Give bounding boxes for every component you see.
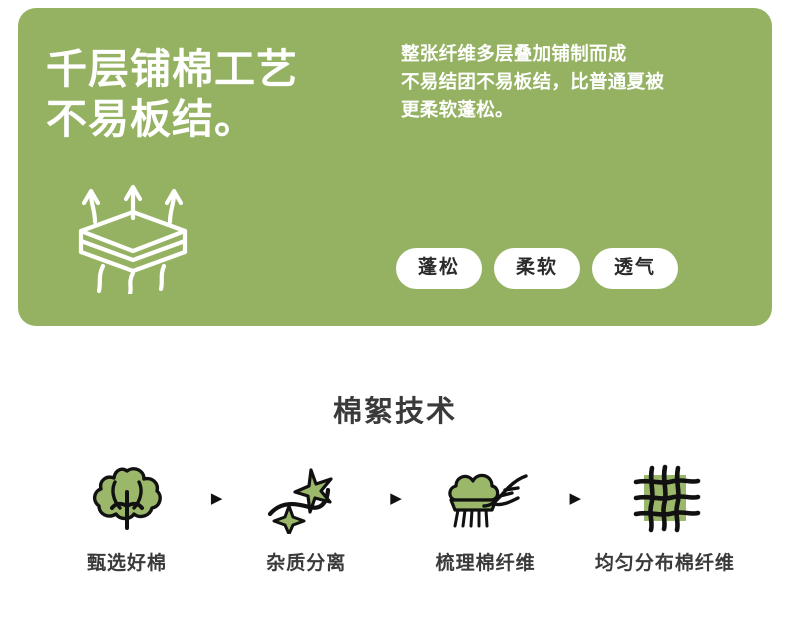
hero-title: 千层铺棉工艺 不易板结。 <box>46 44 298 144</box>
hero-description: 整张纤维多层叠加铺制而成 不易结团不易板结，比普通夏被 更柔软蓬松。 <box>401 40 664 124</box>
sparkle-clean-icon <box>245 462 367 534</box>
technique-step-select-cotton: 甄选好棉 <box>66 462 188 575</box>
technique-step-row: 甄选好棉 ▶ 杂质分离 ▶ <box>66 462 726 575</box>
technique-step-label: 梳理棉纤维 <box>425 548 547 575</box>
technique-step-label: 甄选好棉 <box>66 548 188 575</box>
feature-pill-row: 蓬松 柔软 透气 <box>396 248 678 289</box>
step-arrow-icon-3: ▶ <box>560 462 590 534</box>
technique-step-comb-fiber: 梳理棉纤维 <box>425 462 547 575</box>
step-arrow-icon-2: ▶ <box>381 462 411 534</box>
feature-pill-fluffy[interactable]: 蓬松 <box>396 248 482 289</box>
technique-step-label: 均匀分布棉纤维 <box>586 548 744 575</box>
comb-fiber-icon <box>425 462 547 534</box>
technique-step-label: 杂质分离 <box>245 548 367 575</box>
cotton-boll-icon <box>66 462 188 534</box>
hero-banner: 千层铺棉工艺 不易板结。 整张纤维多层叠加铺制而成 不易结团不易板结，比普通夏被… <box>18 8 772 326</box>
woven-fiber-icon <box>604 462 726 534</box>
step-arrow-icon-1: ▶ <box>202 462 232 534</box>
technique-step-even-distribution: 均匀分布棉纤维 <box>604 462 726 575</box>
feature-pill-soft[interactable]: 柔软 <box>494 248 580 289</box>
technique-step-impurity-separation: 杂质分离 <box>245 462 367 575</box>
feature-pill-breathable[interactable]: 透气 <box>592 248 678 289</box>
technique-section-title: 棉絮技术 <box>0 388 790 430</box>
breathable-layers-icon <box>48 174 218 294</box>
